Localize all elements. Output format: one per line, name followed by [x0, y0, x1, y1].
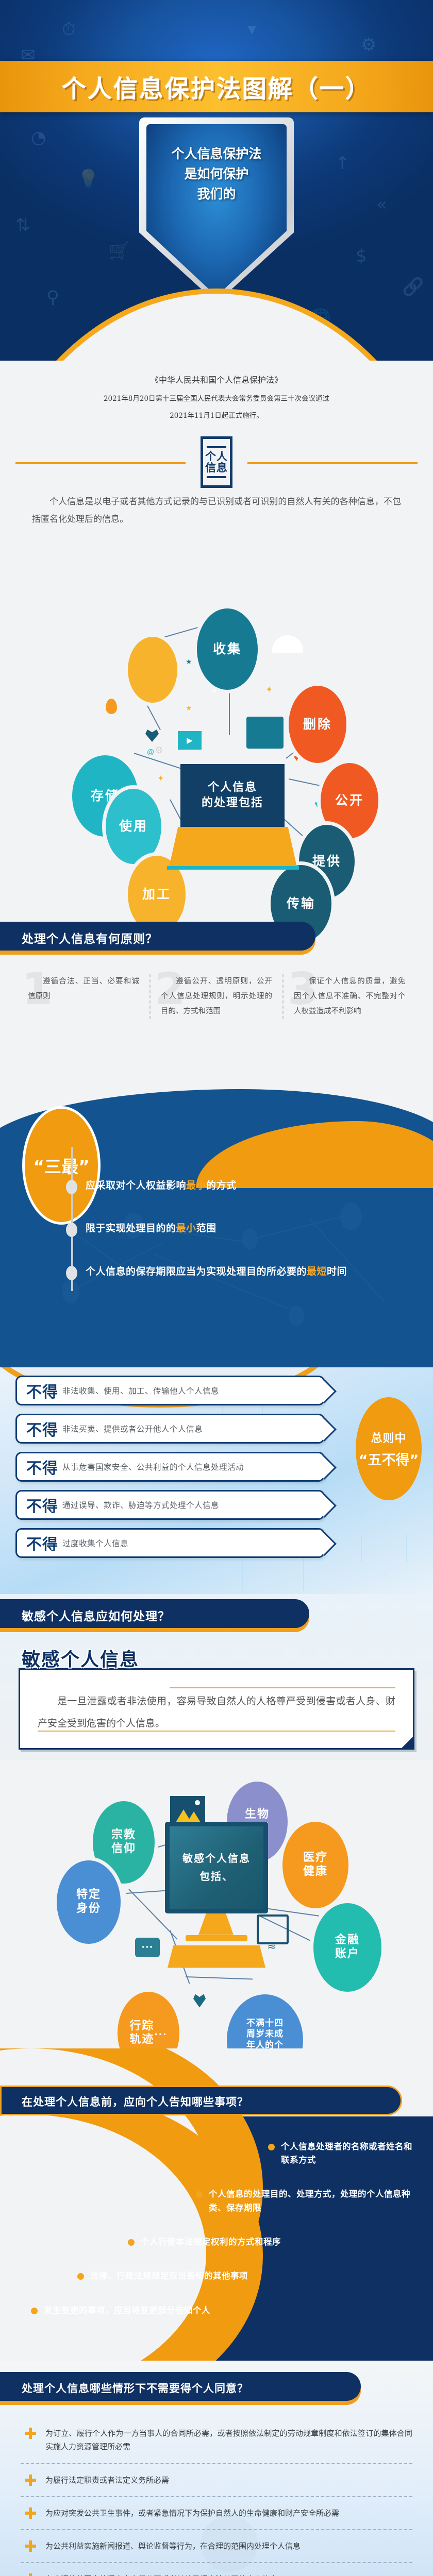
notify-text: 个人信息处理者的名称或者姓名和联系方式 [281, 2140, 418, 2167]
bullet-icon [196, 2191, 203, 2198]
shield-line-1: 个人信息保护法 [139, 144, 294, 164]
bubble-blank-yellow [128, 637, 177, 703]
heart-icon [193, 1994, 206, 2008]
sanzui-text-pre: 应采取对个人权益影响 [86, 1180, 186, 1191]
section-title: 在处理个人信息前，应向个人告知哪些事项？ [22, 2094, 248, 2109]
monitor-line-1: 敏感个人信息 [182, 1852, 251, 1866]
doc-icon-bar-top [207, 446, 226, 448]
notify-item: 法律、行政法规规定应当告知的其他事项 [77, 2269, 412, 2283]
sparkle-icon: ✦ [157, 773, 164, 784]
principle-item: 2 遵循公开、透明原则，公开个人信息处理规则，明示处理的目的、方式和范围 [149, 974, 282, 1019]
principle-text: 保证个人信息的质量，避免因个人信息不准确、不完整对个人权益造成不利影响 [294, 974, 405, 1019]
wubude-keyword: 不得 [26, 1455, 58, 1478]
card-underline [38, 1731, 395, 1732]
sanzui-highlight: 最短 [307, 1266, 327, 1277]
sanzui-text-post: 的方式 [206, 1180, 237, 1191]
exception-item: 为履行法定职责或者法定义务所必需 [21, 2464, 412, 2497]
principles-columns: 1 遵循合法、正当、必要和诚信原则 2 遵循公开、透明原则，公开个人信息处理规则… [0, 954, 433, 1048]
connector-line [186, 1976, 253, 1980]
sanzui-item: 个人信息的保存期限应当为实现处理目的所必要的最短时间 [61, 1264, 391, 1280]
shield-line-2: 是如何保护 [139, 164, 294, 184]
card-underline [170, 1687, 395, 1688]
law-name: 《中华人民共和国个人信息保护法》 [21, 373, 412, 385]
keyboard [168, 1945, 265, 1968]
notify-text: 个人信息的处理目的、处理方式，处理的个人信息种类、保存期限 [209, 2188, 418, 2215]
sparkle-icon: ✦ [265, 685, 273, 695]
wubude-text: 过度收集个人信息 [62, 1537, 128, 1549]
sanzui-dot [66, 1223, 77, 1237]
at-icon: @ [147, 748, 154, 756]
wubude-row: 不得 从事危害国家安全、公共利益的个人信息处理活动 [15, 1452, 325, 1482]
wubude-card: 不得 非法买卖、提供或者公开他人个人信息 [15, 1414, 325, 1444]
law-passed-date: 2021年8月20日第十三届全国人民代表大会常务委员会第三十次会议通过 [21, 393, 412, 403]
sensitive-card: 是一旦泄露或者非法使用，容易导致自然人的人格尊严受到侵害或者人身、财产安全受到危… [19, 1668, 414, 1750]
notify-items: 个人信息处理者的名称或者姓名和联系方式 个人信息的处理目的、处理方式，处理的个人… [0, 2140, 433, 2318]
wubude-text: 非法买卖、提供或者公开他人个人信息 [62, 1423, 203, 1434]
bullet-icon [128, 2239, 135, 2246]
wubude-card: 不得 非法收集、使用、加工、传输他人个人信息 [15, 1376, 325, 1405]
infographic-page: ✉ ⏱ ◔ 💡 ⇅ 🛒 ⚲ ⚙ @ ↑ « $ 🔗 🌐 ▦ ▾ 个人信息保护法图… [0, 0, 433, 2576]
sanzui-text-pre: 限于实现处理目的的 [86, 1223, 176, 1234]
exception-text: 为订立、履行个人作为一方当事人的合同所必需，或者按照依法制定的劳动规章制度和依法… [45, 2427, 412, 2454]
exceptions-header-wrap: 处理个人信息哪些情形下不需要得个人同意？ [0, 2361, 433, 2404]
notify-item: 个人行使本法规定权利的方式和程序 [128, 2235, 417, 2249]
pin-icon [106, 699, 117, 714]
section-header-notify: 在处理个人信息前，应向个人告知哪些事项？ [0, 2086, 433, 2117]
bullet-icon [268, 2144, 275, 2150]
wubude-keyword: 不得 [26, 1494, 58, 1516]
sanzui-item: 应采取对个人权益影响最小的方式 [61, 1178, 391, 1194]
wubude-text: 非法收集、使用、加工、传输他人个人信息 [62, 1385, 219, 1396]
sanzui-dot [66, 1180, 77, 1194]
wubude-badge: 总则中 “五不得” [356, 1397, 422, 1500]
bubble-delete: 删除 [289, 686, 346, 763]
shield-text: 个人信息保护法 是如何保护 我们的 [139, 144, 294, 204]
section-header-principles: 处理个人信息有何原则？ [0, 922, 433, 954]
star-icon: ★ [186, 657, 192, 666]
exception-item: 为公共利益实施新闻报道、舆论监督等行为，在合理的范围内处理个人信息 [21, 2530, 412, 2563]
wubude-text: 从事危害国家安全、公共利益的个人信息处理活动 [62, 1461, 244, 1472]
monitor-screen: 敏感个人信息 包括、 [165, 1822, 268, 1913]
wubude-card: 不得 从事危害国家安全、公共利益的个人信息处理活动 [15, 1452, 325, 1482]
law-effective-date: 2021年11月1日起正式施行。 [21, 410, 412, 420]
card-corner-fold [402, 1737, 413, 1748]
plus-icon [25, 2475, 36, 2486]
definition-paragraph: 个人信息是以电子或者其他方式记录的与已识别或者可识别的自然人有关的各种信息，不包… [0, 491, 433, 547]
exception-item: 为订立、履行个人作为一方当事人的合同所必需，或者按照依法制定的劳动规章制度和依法… [21, 2417, 412, 2464]
laptop-screen: 个人信息 的处理包括 [180, 764, 285, 827]
wubude-row: 不得 过度收集个人信息 [15, 1528, 325, 1558]
principles-section: 处理个人信息有何原则？ 1 遵循合法、正当、必要和诚信原则 2 遵循公开、透明原… [0, 907, 433, 1048]
wubude-badge-top: 总则中 [371, 1429, 406, 1446]
heart-icon [145, 730, 159, 742]
play-icon: ▶ [178, 731, 202, 750]
laptop-edge [167, 866, 299, 870]
notify-text: 法律、行政法规规定应当告知的其他事项 [90, 2269, 248, 2283]
notify-text: 个人行使本法规定权利的方式和程序 [141, 2235, 281, 2249]
exception-item: 为应对突发公共卫生事件，或者紧急情况下为保护自然人的生命健康和财产安全所必需 [21, 2497, 412, 2530]
principle-text: 遵循合法、正当、必要和诚信原则 [28, 974, 139, 1004]
folder-icon [257, 1914, 289, 1944]
shield-line-3: 我们的 [139, 184, 294, 205]
principle-text: 遵循公开、透明原则，公开个人信息处理规则，明示处理的目的、方式和范围 [161, 974, 272, 1019]
bullet-icon [77, 2273, 84, 2280]
wubude-card: 不得 通过误导、欺诈、胁迫等方式处理个人信息 [15, 1490, 325, 1520]
monitor-line-2: 包括、 [182, 1870, 251, 1884]
bubble-collect: 收集 [197, 608, 258, 690]
exception-text: 为履行法定职责或者法定义务所必需 [45, 2473, 169, 2487]
notify-item: 个人信息处理者的名称或者姓名和联系方式 [268, 2140, 418, 2167]
wubude-keyword: 不得 [26, 1417, 58, 1440]
sanzui-text-post: 时间 [327, 1266, 347, 1277]
sanzui-dot [66, 1266, 77, 1280]
sanzui-list: 应采取对个人权益影响最小的方式 限于实现处理目的的最小范围 个人信息的保存期限应… [61, 1178, 391, 1307]
sensitive-diagram: ⚙ ••• ≋ 宗教信仰 生物识别 特定身份 医疗健康 金融账户 行踪轨迹...… [0, 1760, 433, 2048]
section-header-exceptions: 处理个人信息哪些情形下不需要得个人同意？ [0, 2372, 433, 2404]
wubude-keyword: 不得 [26, 1532, 58, 1554]
laptop-line-2: 的处理包括 [202, 795, 263, 811]
bubble-medical: 医疗健康 [282, 1822, 348, 1908]
notify-item: 发生变更的事项，应当将变更部分告知个人 [31, 2304, 412, 2317]
exception-item: 在合理的范围内处理个人自行公开或者其他已经合法公开的个人信息 [21, 2563, 412, 2576]
monitor-stand [198, 1913, 234, 1935]
wubude-keyword: 不得 [26, 1379, 58, 1402]
notify-item: 个人信息的处理目的、处理方式，处理的个人信息种类、保存期限 [196, 2188, 418, 2215]
exceptions-list: 为订立、履行个人作为一方当事人的合同所必需，或者按照依法制定的劳动规章制度和依法… [0, 2404, 433, 2576]
exception-text: 为应对突发公共卫生事件，或者紧急情况下为保护自然人的生命健康和财产安全所必需 [45, 2506, 339, 2520]
sanzui-highlight: 最小 [176, 1223, 196, 1234]
plus-icon [25, 2540, 36, 2552]
gear-icon: ⚙ [155, 745, 163, 756]
section-title: 处理个人信息哪些情形下不需要得个人同意？ [22, 2380, 248, 2396]
star-icon: ★ [186, 704, 192, 713]
main-title-band: 个人信息保护法图解（一） [0, 61, 433, 112]
section-title: 敏感个人信息应如何处理？ [22, 1606, 170, 1624]
bubble-financial: 金融账户 [313, 1903, 381, 1992]
doc-icon-bar-bottom [207, 476, 226, 478]
wubude-row: 不得 通过误导、欺诈、胁迫等方式处理个人信息 [15, 1490, 325, 1520]
sanzui-item: 限于实现处理目的的最小范围 [61, 1221, 391, 1236]
exceptions-section: 处理个人信息哪些情形下不需要得个人同意？ 为订立、履行个人作为一方当事人的合同所… [0, 2361, 433, 2576]
section-header-sensitive: 敏感个人信息应如何处理？ [0, 1599, 433, 1631]
cloud-icon [272, 635, 303, 653]
chat-bubble-icon [246, 717, 284, 749]
hero-banner: ✉ ⏱ ◔ 💡 ⇅ 🛒 ⚲ ⚙ @ ↑ « $ 🔗 🌐 ▦ ▾ 个人信息保护法图… [0, 0, 433, 361]
sanzui-highlight: 最小 [186, 1180, 206, 1191]
divider-rule-left [15, 462, 186, 464]
bubble-identity: 特定身份 [57, 1860, 121, 1944]
law-metadata: 《中华人民共和国个人信息保护法》 2021年8月20日第十三届全国人民代表大会常… [0, 361, 433, 433]
chat-dots: ••• [142, 1943, 154, 1952]
notify-section: 在处理个人信息前，应向个人告知哪些事项？ 个人信息处理者的名称或者姓名和联系方式… [0, 2048, 433, 2361]
laptop-base [169, 827, 297, 867]
shield-emblem: 个人信息保护法 是如何保护 我们的 [139, 117, 294, 303]
laptop-line-1: 个人信息 [202, 780, 263, 795]
document-icon: 个人 信息 [201, 436, 232, 488]
wubude-card: 不得 过度收集个人信息 [15, 1528, 325, 1558]
page-title: 个人信息保护法图解（一） [62, 69, 371, 105]
principle-item: 3 保证个人信息的质量，避免因个人信息不准确、不完整对个人权益造成不利影响 [282, 974, 415, 1019]
section-title: 处理个人信息有何原则？ [22, 929, 158, 946]
bubble-use: 使用 [106, 789, 161, 864]
sensitive-definition-wrap: 敏感个人信息 是一旦泄露或者非法使用，容易导致自然人的人格尊严受到侵害或者人身、… [0, 1631, 433, 1760]
principle-item: 1 遵循合法、正当、必要和诚信原则 [18, 974, 149, 1019]
wubude-row: 不得 非法收集、使用、加工、传输他人个人信息 [15, 1376, 325, 1405]
doc-icon-label-bottom: 信息 [205, 462, 228, 473]
heart-icon: ♥ [314, 799, 320, 810]
bullet-icon [31, 2308, 38, 2314]
monitor-foot [186, 1935, 247, 1941]
wubude-badge-bottom: “五不得” [359, 1449, 419, 1469]
exception-text: 为公共利益实施新闻报道、舆论监督等行为，在合理的范围内处理个人信息 [45, 2539, 301, 2553]
processing-diagram: ▶ ★ ★ ★ ✦ ✦ @ ⚙ ♥ ♥ ♥ ♥ ≋ @ ★ 收集 删除 存储 公… [0, 547, 433, 907]
divider-rule-right [247, 462, 418, 464]
connector-line [229, 689, 230, 735]
exception-text: 在合理的范围内处理个人自行公开或者其他已经合法公开的个人信息 [45, 2572, 277, 2576]
plus-icon [25, 2573, 36, 2576]
sanzui-text-pre: 个人信息的保存期限应当为实现处理目的所必要的 [86, 1266, 307, 1277]
plus-icon [25, 2428, 36, 2439]
sensitive-section: 敏感个人信息应如何处理？ 敏感个人信息 是一旦泄露或者非法使用，容易导致自然人的… [0, 1594, 433, 2048]
wubude-section: 总则中 “五不得” 不得 非法收集、使用、加工、传输他人个人信息 不得 非法买卖… [0, 1367, 433, 1594]
plus-icon [25, 2507, 36, 2519]
sanzui-text-post: 范围 [196, 1223, 216, 1234]
sanzui-section: “三最” 应采取对个人权益影响最小的方式 限于实现处理目的的最小范围 个人信息的… [0, 1048, 433, 1367]
wubude-text: 通过误导、欺诈、胁迫等方式处理个人信息 [62, 1499, 219, 1511]
heart-icon: ♥ [294, 753, 299, 764]
doc-icon-label-top: 个人 [205, 451, 228, 462]
wubude-row: 不得 非法买卖、提供或者公开他人个人信息 [15, 1414, 325, 1444]
section-divider: 个人 信息 [0, 433, 433, 491]
notify-text: 发生变更的事项，应当将变更部分告知个人 [44, 2304, 210, 2317]
sensitive-card-title: 敏感个人信息 [22, 1645, 139, 1671]
sensitive-definition: 是一旦泄露或者非法使用，容易导致自然人的人格尊严受到侵害或者人身、财产安全受到危… [38, 1690, 395, 1735]
